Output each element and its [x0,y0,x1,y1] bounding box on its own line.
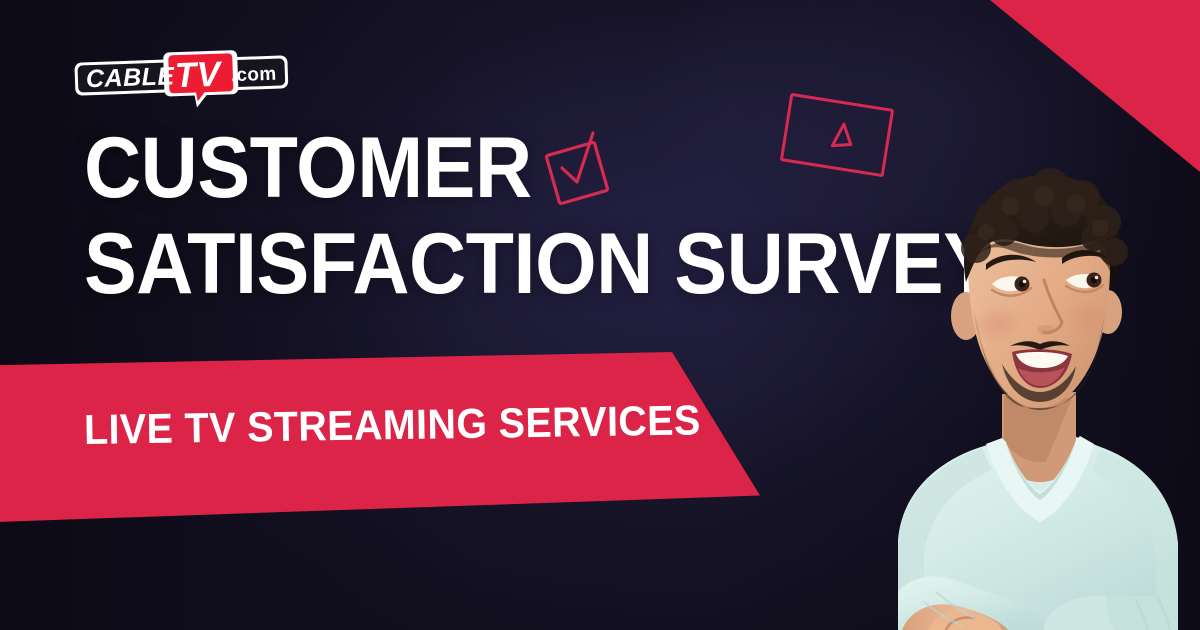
cabletv-com-logo[interactable]: CABLE TV .com [74,50,289,108]
promo-banner-canvas: CABLE TV .com CUSTOMER SATISFACTION [0,0,1200,630]
logo-text-tv: TV [174,55,223,96]
logo-text-com: .com [231,64,277,87]
smiling-man-photo [806,140,1200,630]
headline-line-2: SATISFACTION SURVEY [84,222,912,306]
headline-line-1: CUSTOMER [84,126,912,210]
logo-text-cable: CABLE [85,62,175,93]
subtitle-text: LIVE TV STREAMING SERVICES [84,399,701,451]
